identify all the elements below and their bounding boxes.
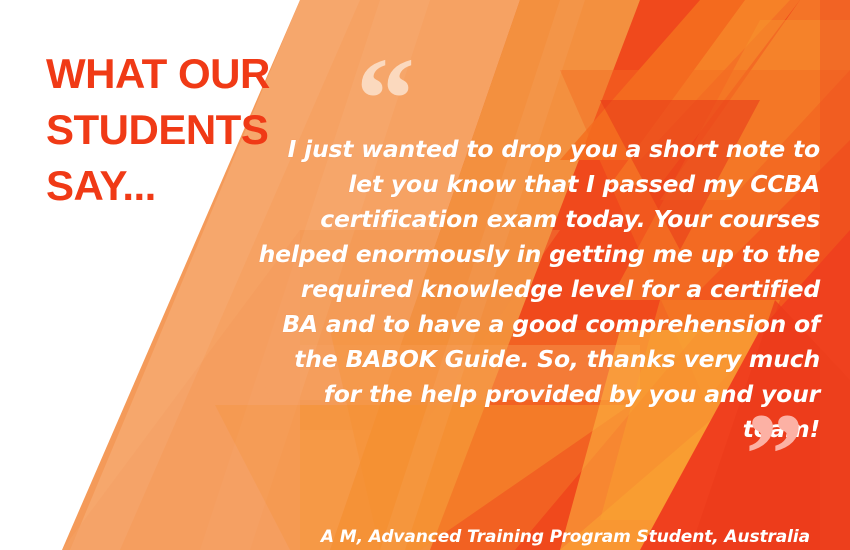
testimonial-quote-text: I just wanted to drop you a short note t… <box>258 132 820 447</box>
testimonial-attribution: A M, Advanced Training Program Student, … <box>258 526 810 548</box>
closing-quotation-mark-icon: ” <box>745 396 804 514</box>
testimonial-card: WHAT OUR STUDENTS SAY... “ I just wanted… <box>0 0 850 550</box>
testimonial-block: “ I just wanted to drop you a short note… <box>258 44 820 514</box>
